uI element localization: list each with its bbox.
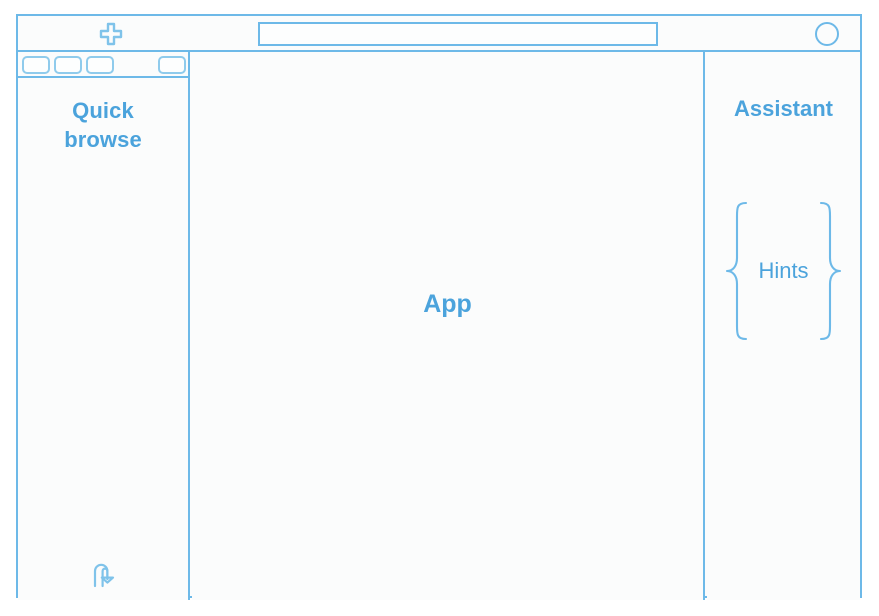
- app-content-area[interactable]: App: [192, 52, 705, 600]
- top-bar: [18, 16, 860, 52]
- sidebar-title: Quick browse: [18, 96, 188, 154]
- circle-avatar-icon[interactable]: [815, 22, 839, 46]
- curly-brace-right-icon: [817, 200, 843, 342]
- sidebar-toolbar: [18, 52, 188, 78]
- plus-icon[interactable]: [99, 22, 123, 46]
- sidebar-toolbar-button-1[interactable]: [22, 56, 50, 74]
- sidebar-toolbar-button-2[interactable]: [54, 56, 82, 74]
- sidebar-panel: Quick browse: [18, 52, 190, 600]
- wireframe-canvas: Quick browse App Assistant: [0, 0, 879, 616]
- assistant-title: Assistant: [707, 96, 860, 122]
- hints-block: Hints: [707, 200, 860, 342]
- sidebar-toolbar-button-3[interactable]: [86, 56, 114, 74]
- assistant-panel: Assistant Hints: [707, 52, 860, 600]
- window-body: Quick browse App Assistant: [18, 52, 860, 600]
- hints-label: Hints: [750, 258, 816, 284]
- app-label: App: [192, 52, 703, 600]
- u-turn-arrow-icon[interactable]: [90, 560, 120, 588]
- curly-brace-left-icon: [724, 200, 750, 342]
- address-input[interactable]: [258, 22, 658, 46]
- sidebar-toolbar-button-4[interactable]: [158, 56, 186, 74]
- app-window: Quick browse App Assistant: [16, 14, 862, 598]
- sidebar-title-line-1: Quick: [18, 96, 188, 125]
- sidebar-title-line-2: browse: [18, 125, 188, 154]
